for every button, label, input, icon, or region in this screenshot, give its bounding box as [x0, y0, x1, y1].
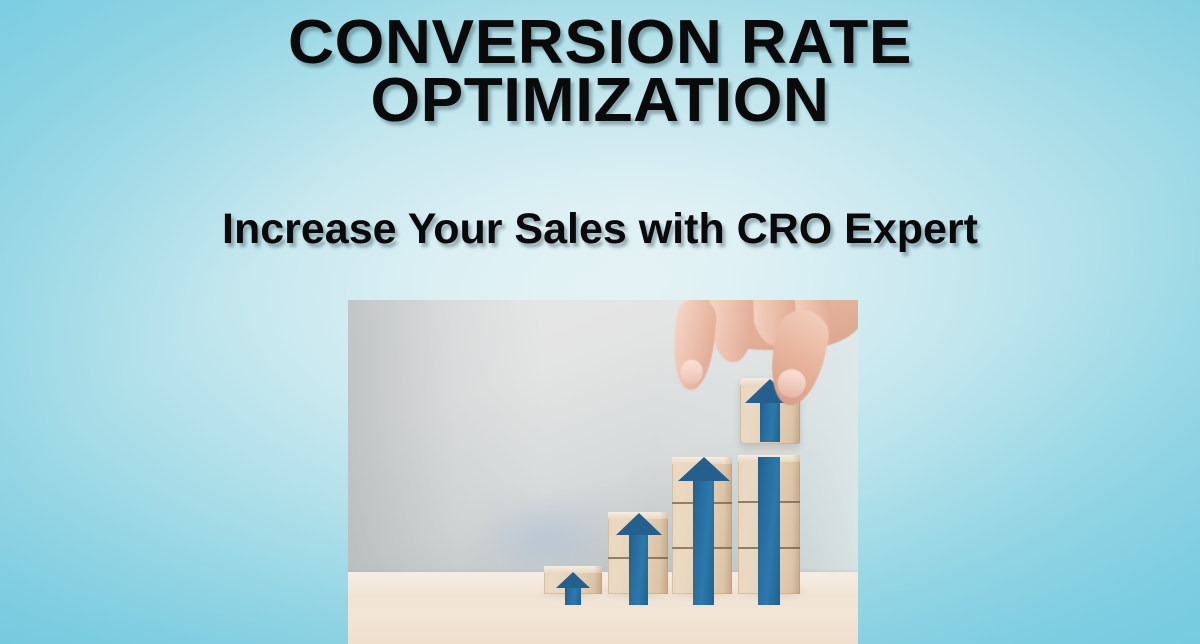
- up-arrow-icon: [616, 513, 662, 535]
- thumbnail: [775, 367, 808, 400]
- cube-right-face: [660, 558, 668, 594]
- cube-right-face: [792, 548, 800, 594]
- headline-line-2: OPTIMIZATION: [0, 72, 1200, 130]
- up-arrow-stem: [693, 480, 714, 605]
- up-arrow-icon: [678, 457, 730, 481]
- fingernail: [680, 359, 704, 385]
- hero-photo: [348, 300, 858, 644]
- up-arrow-icon: [556, 572, 590, 588]
- cube-right-face: [724, 503, 732, 548]
- block-gap-reflection: [744, 445, 798, 455]
- subtitle: Increase Your Sales with CRO Expert: [0, 208, 1200, 251]
- subheadline-block: Increase Your Sales with CRO Expert: [0, 208, 1200, 251]
- cube-right-face: [792, 502, 800, 548]
- page-title: CONVERSION RATE OPTIMIZATION: [0, 14, 1200, 131]
- cube-right-face: [724, 548, 732, 594]
- promotional-banner: CONVERSION RATE OPTIMIZATION Increase Yo…: [0, 0, 1200, 644]
- headline-block: CONVERSION RATE OPTIMIZATION: [0, 14, 1200, 131]
- up-arrow-stem: [629, 534, 648, 605]
- wall-blue-reflection: [481, 498, 614, 568]
- middle-finger: [709, 300, 756, 363]
- hand-placing-block: [648, 300, 858, 408]
- up-arrow-bar-icon: [758, 457, 780, 605]
- cube-right-face: [594, 566, 602, 594]
- up-arrow-stem: [565, 587, 581, 605]
- cube-right-face: [792, 455, 800, 502]
- index-finger: [670, 300, 718, 392]
